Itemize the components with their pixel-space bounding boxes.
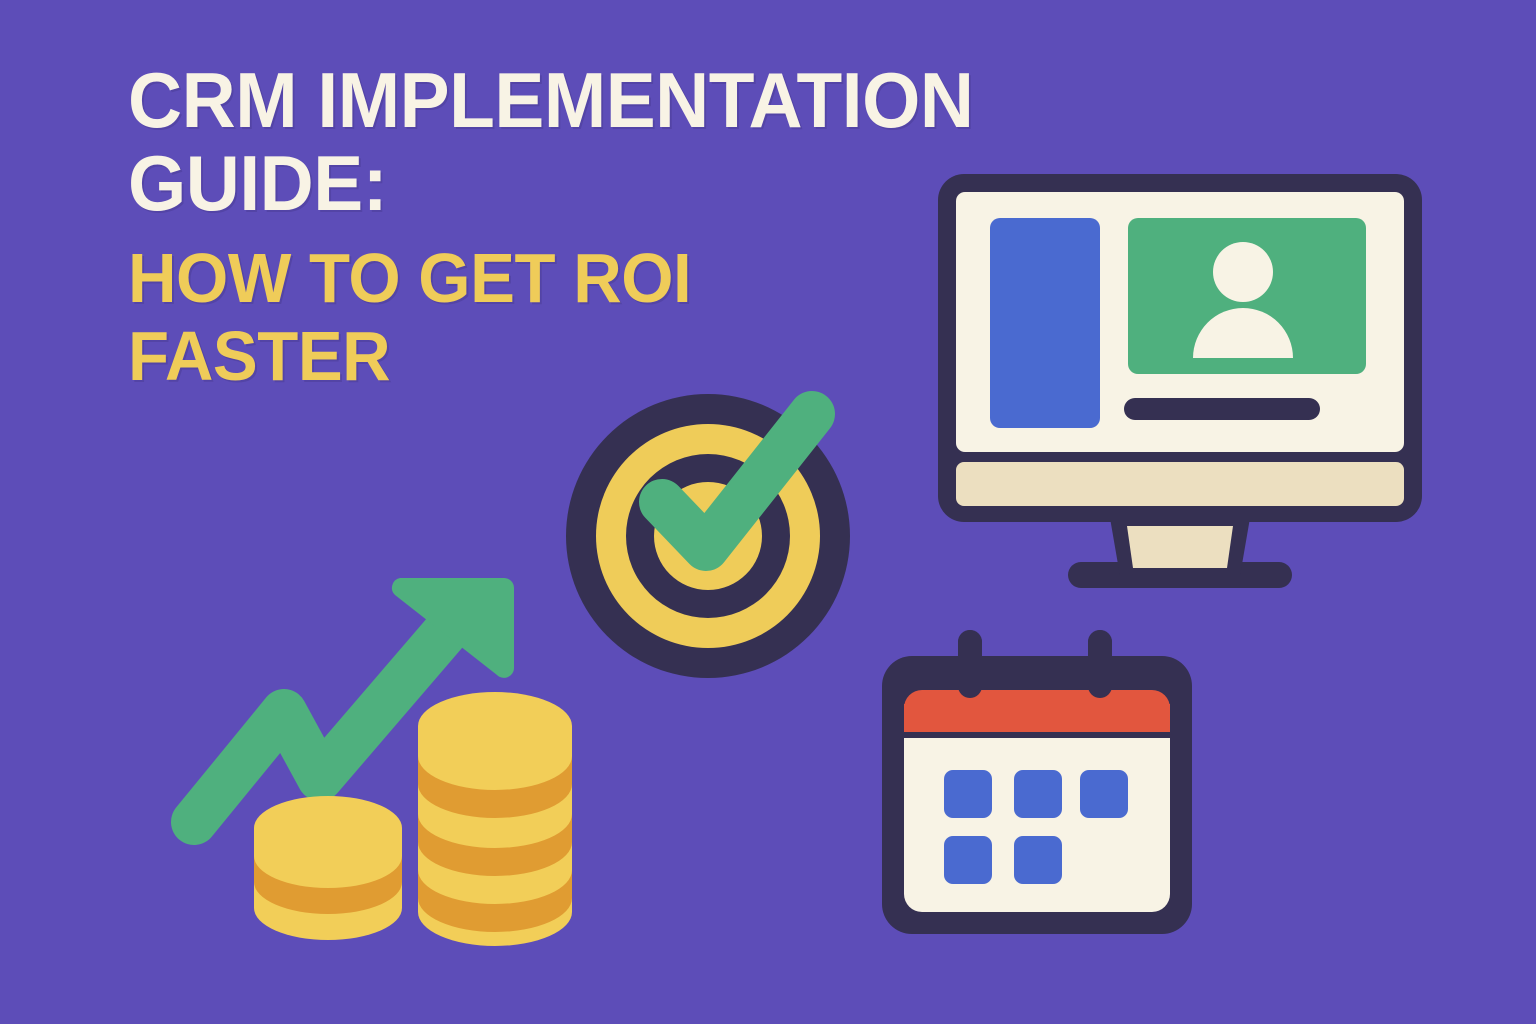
growth-coins-icon	[172, 560, 592, 960]
growth-arrow-line	[194, 622, 454, 822]
calendar-day-cell[interactable]	[1080, 770, 1128, 818]
monitor-stand-face	[1127, 526, 1233, 568]
headline-line-4: FASTER	[128, 322, 1011, 391]
target-check-icon	[560, 390, 860, 680]
headline-line-3: HOW TO GET ROI	[128, 244, 1011, 313]
page-title: CRM IMPLEMENTATION GUIDE: HOW TO GET ROI…	[128, 62, 1048, 391]
crm-dashboard-monitor-icon	[930, 162, 1430, 592]
calendar-ring-right-over	[1088, 630, 1112, 698]
monitor-chin	[956, 462, 1404, 506]
headline-line-1: CRM IMPLEMENTATION	[128, 62, 1011, 139]
calendar-day-cell[interactable]	[1014, 770, 1062, 818]
banner-canvas: CRM IMPLEMENTATION GUIDE: HOW TO GET ROI…	[0, 0, 1536, 1024]
screen-sidebar-panel	[990, 218, 1100, 428]
contact-avatar-head	[1213, 242, 1273, 302]
calendar-icon	[862, 620, 1212, 950]
calendar-day-cell[interactable]	[944, 836, 992, 884]
calendar-day-cell[interactable]	[944, 770, 992, 818]
calendar-header-fill	[904, 704, 1170, 732]
calendar-ring-left-over	[958, 630, 982, 698]
coin-stack-short	[254, 796, 402, 940]
screen-text-bar	[1124, 398, 1320, 420]
calendar-body	[904, 738, 1170, 912]
headline-line-2: GUIDE:	[128, 145, 1011, 222]
coin-stack-tall	[418, 692, 572, 946]
calendar-day-cell[interactable]	[1014, 836, 1062, 884]
